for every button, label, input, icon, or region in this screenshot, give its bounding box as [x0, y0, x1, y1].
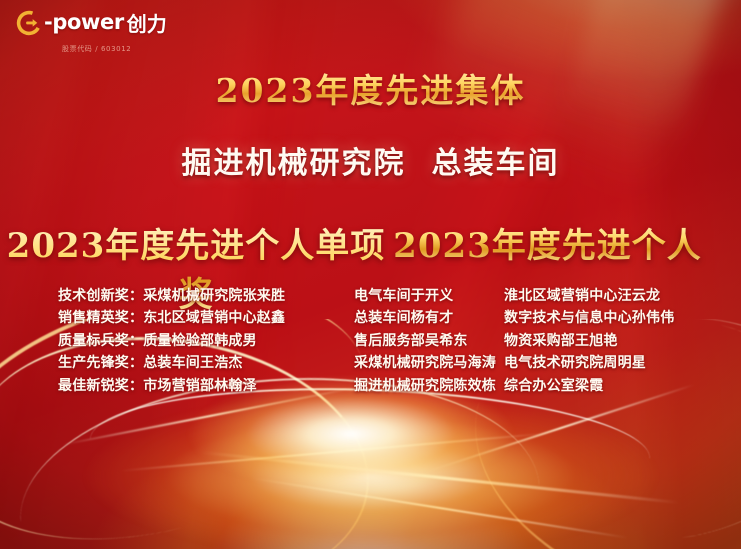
brand-logo-row: -power 创力	[16, 8, 167, 37]
special-award-row: 最佳新锐奖：市场营销部林翰泽	[58, 375, 340, 397]
individual-award-row: 售后服务部吴希东物资采购部王旭艳	[354, 330, 741, 352]
individual-winner-name: 掘进机械研究院陈效栋	[354, 375, 504, 397]
individual-winner-name: 采煤机械研究院马海涛	[354, 352, 504, 374]
individual-winner-name: 总装车间杨有才	[354, 307, 504, 329]
award-winner-name: 东北区域营销中心赵鑫	[143, 310, 285, 326]
brand-logo: -power 创力 股票代码 / 603012	[16, 8, 167, 54]
award-winner-name: 总装车间王浩杰	[143, 355, 242, 371]
special-award-list: 技术创新奖：采煤机械研究院张来胜销售精英奖：东北区域营销中心赵鑫质量标兵奖：质量…	[0, 285, 340, 397]
individual-winner-name: 电气车间于开义	[354, 285, 504, 307]
special-award-row: 质量标兵奖：质量检验部韩成男	[58, 330, 340, 352]
individual-award-row: 总装车间杨有才数字技术与信息中心孙伟伟	[354, 307, 741, 329]
award-category-label: 技术创新奖：	[58, 288, 143, 304]
winner-lists: 技术创新奖：采煤机械研究院张来胜销售精英奖：东北区域营销中心赵鑫质量标兵奖：质量…	[0, 285, 741, 397]
individual-winner-name: 淮北区域营销中心汪云龙	[504, 285, 660, 307]
award-category-label: 生产先锋奖：	[58, 355, 143, 371]
collective-winner-2: 总装车间	[432, 146, 560, 181]
award-poster: -power 创力 股票代码 / 603012 2023年度先进集体 掘进机械研…	[0, 0, 741, 549]
c-power-circle-arrow-icon	[16, 10, 42, 36]
award-category-label: 最佳新锐奖：	[58, 378, 143, 394]
individual-award-heading: 2023年度先进个人	[393, 218, 702, 267]
individual-winner-name: 售后服务部吴希东	[354, 330, 504, 352]
award-winner-name: 市场营销部林翰泽	[143, 378, 257, 394]
individual-winner-name: 物资采购部王旭艳	[504, 330, 618, 352]
individual-winner-name: 电气技术研究院周明星	[504, 352, 646, 374]
poster-content: 2023年度先进集体 掘进机械研究院总装车间 2023年度先进个人单项奖 202…	[0, 0, 741, 549]
special-award-row: 生产先锋奖：总装车间王浩杰	[58, 352, 340, 374]
brand-wordmark: -power	[44, 12, 124, 33]
individual-winner-name: 综合办公室梁霞	[504, 375, 603, 397]
special-award-row: 技术创新奖：采煤机械研究院张来胜	[58, 285, 340, 307]
individual-award-row: 电气车间于开义淮北区域营销中心汪云龙	[354, 285, 741, 307]
individual-winner-name: 数字技术与信息中心孙伟伟	[504, 307, 674, 329]
collective-winners: 掘进机械研究院总装车间	[0, 138, 741, 182]
stock-code-label: 股票代码 / 603012	[62, 44, 131, 54]
award-winner-name: 采煤机械研究院张来胜	[143, 288, 285, 304]
award-category-label: 质量标兵奖：	[58, 333, 143, 349]
special-award-row: 销售精英奖：东北区域营销中心赵鑫	[58, 307, 340, 329]
individual-award-list: 电气车间于开义淮北区域营销中心汪云龙总装车间杨有才数字技术与信息中心孙伟伟售后服…	[340, 285, 741, 397]
collective-winner-1: 掘进机械研究院	[182, 146, 406, 181]
individual-award-row: 掘进机械研究院陈效栋综合办公室梁霞	[354, 375, 741, 397]
brand-wordmark-cn: 创力	[127, 8, 167, 37]
collective-title: 2023年度先进集体	[0, 64, 741, 112]
award-category-label: 销售精英奖：	[58, 310, 143, 326]
award-winner-name: 质量检验部韩成男	[143, 333, 257, 349]
individual-award-row: 采煤机械研究院马海涛电气技术研究院周明星	[354, 352, 741, 374]
